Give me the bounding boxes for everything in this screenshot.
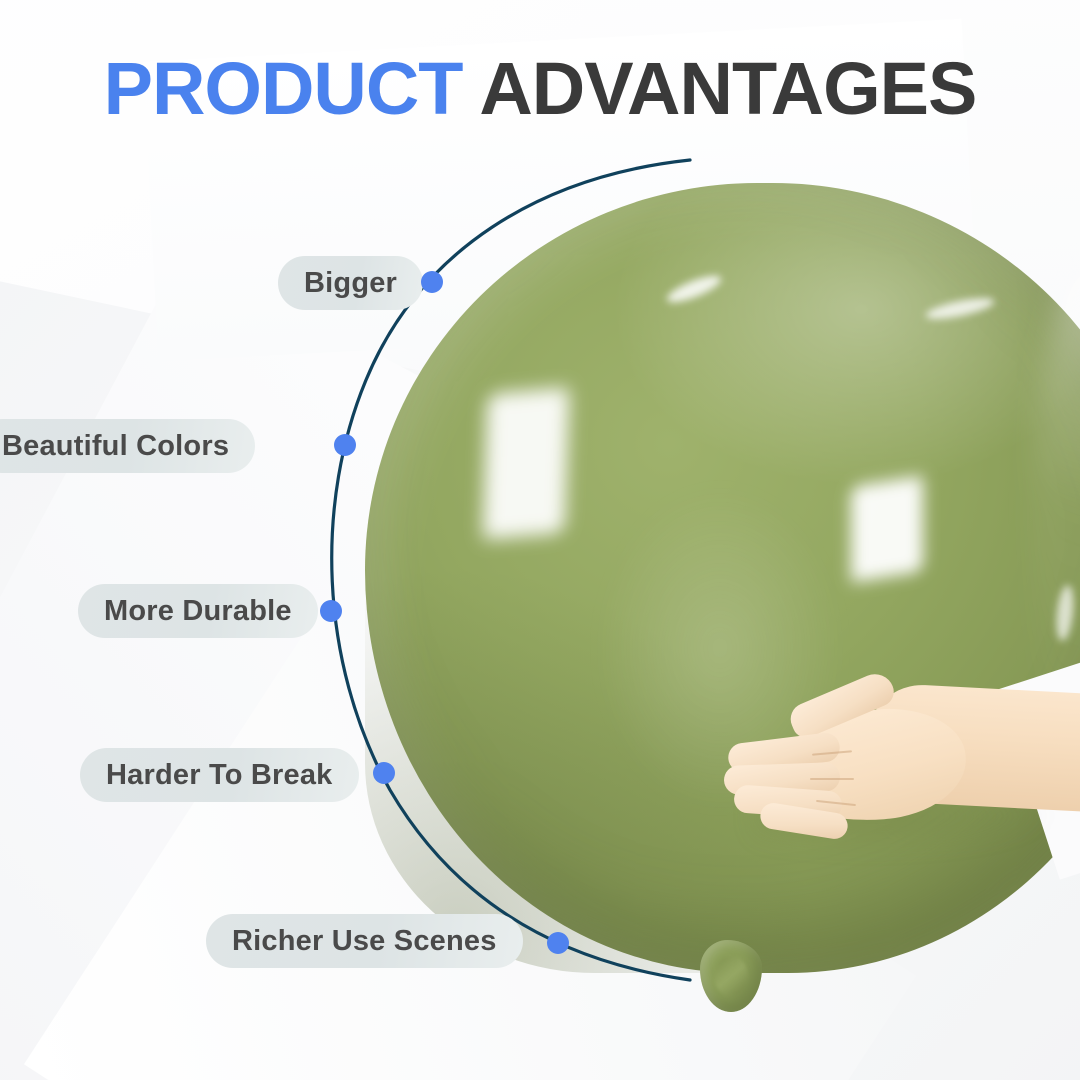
page-title: PRODUCT ADVANTAGES (0, 46, 1080, 131)
feature-label: Harder To Break (106, 759, 333, 792)
balloon-highlight-streak-2 (924, 294, 996, 323)
feature-pill-richer-use-scenes[interactable]: Richer Use Scenes (206, 914, 523, 968)
feature-label: More Durable (104, 595, 292, 628)
feature-pill-beautiful-colors[interactable]: Beautiful Colors (0, 419, 255, 473)
hand-pressing-balloon (716, 672, 1080, 848)
balloon-knot-fold (714, 956, 748, 996)
feature-label: Beautiful Colors (2, 430, 229, 463)
connector-dot-richer-use-scenes (547, 932, 569, 954)
feature-label: Bigger (304, 267, 397, 300)
feature-pill-harder-to-break[interactable]: Harder To Break (80, 748, 359, 802)
connector-dot-harder-to-break (373, 762, 395, 784)
knuckle-crease-2 (810, 778, 854, 780)
connector-dot-more-durable (320, 600, 342, 622)
title-rest-word: ADVANTAGES (463, 47, 977, 130)
balloon-window-highlight-right (851, 475, 923, 582)
product-advantages-poster: PRODUCT ADVANTAGES (0, 0, 1080, 1080)
connector-dot-bigger (421, 271, 443, 293)
balloon-highlight-streak-1 (664, 271, 724, 308)
feature-label: Richer Use Scenes (232, 925, 497, 958)
balloon-image (365, 183, 1080, 973)
connector-dot-beautiful-colors (334, 434, 356, 456)
balloon-window-highlight-left (482, 387, 569, 540)
feature-pill-bigger[interactable]: Bigger (278, 256, 423, 310)
title-highlight-word: PRODUCT (104, 47, 463, 130)
balloon-body (365, 183, 1080, 973)
feature-pill-more-durable[interactable]: More Durable (78, 584, 318, 638)
